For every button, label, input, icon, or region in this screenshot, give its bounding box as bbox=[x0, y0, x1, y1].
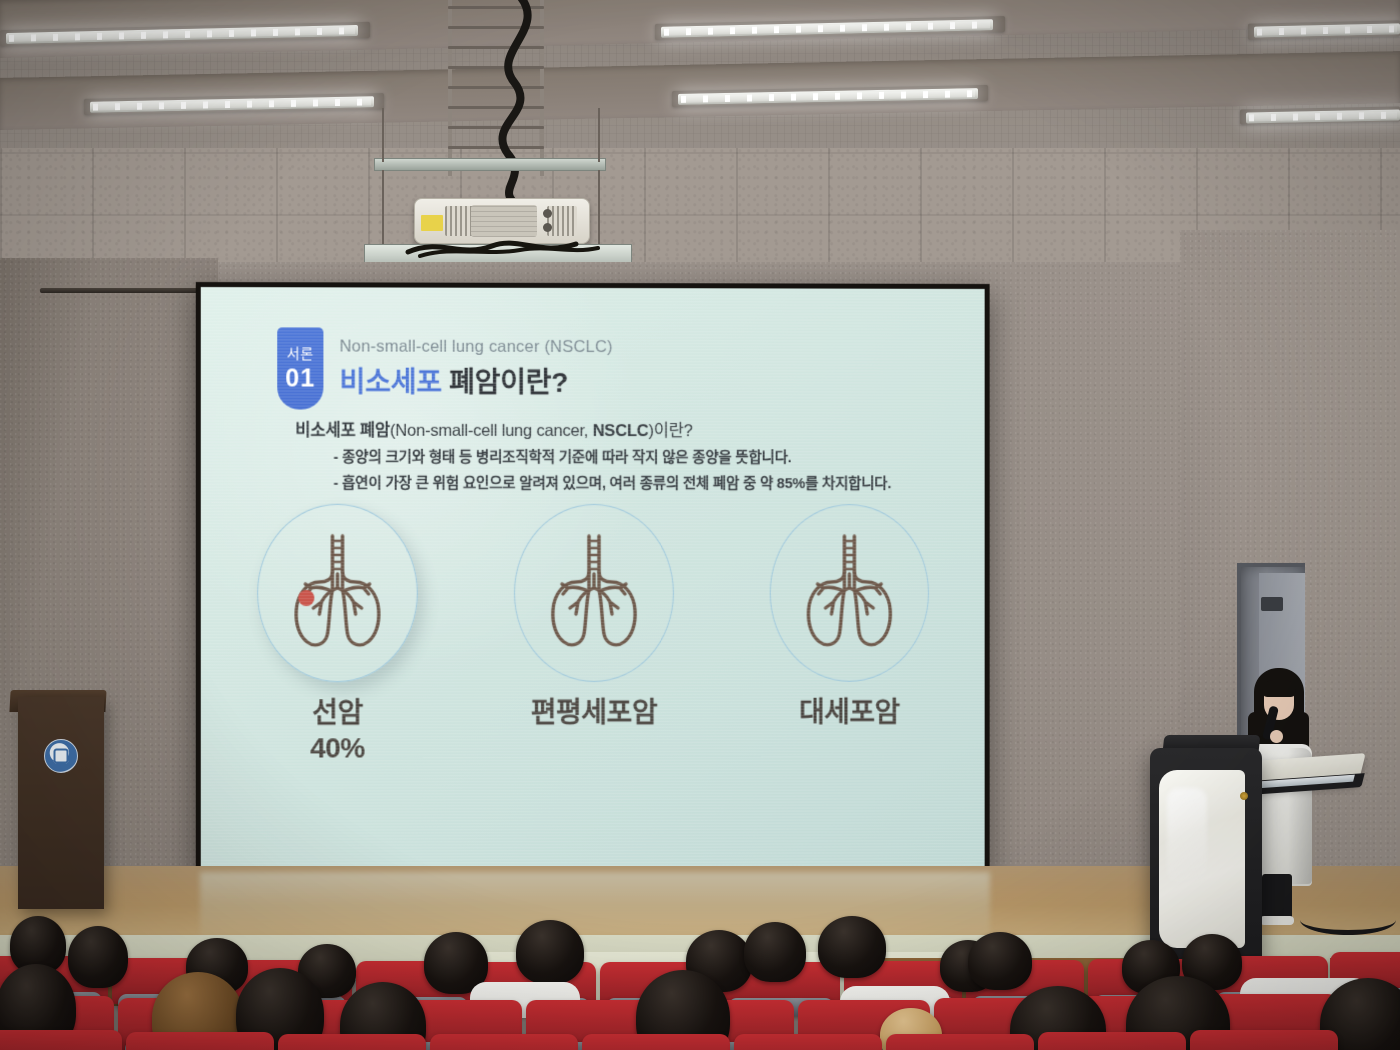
wooden-lectern[interactable] bbox=[18, 697, 104, 909]
audience-head bbox=[516, 920, 584, 984]
seat[interactable] bbox=[582, 1034, 730, 1050]
lung-circle-3 bbox=[770, 504, 929, 682]
section-badge: 서론 01 bbox=[277, 327, 323, 409]
body-lead-line: 비소세포 폐암(Non-small-cell lung cancer, NSCL… bbox=[295, 417, 939, 442]
header-text-group: Non-small-cell lung cancer (NSCLC) 비소세포 … bbox=[340, 327, 613, 401]
university-crest-icon bbox=[44, 739, 78, 773]
seat[interactable] bbox=[886, 1034, 1034, 1050]
lung-icon-with-tumor bbox=[281, 532, 393, 654]
audience-head bbox=[968, 932, 1032, 990]
slide-bullet-2: - 흡연이 가장 큰 위험 요인으로 알려져 있으며, 여러 종류의 전체 폐암… bbox=[333, 472, 938, 493]
hoist-wire-left bbox=[382, 108, 384, 162]
lung-circle-1 bbox=[257, 504, 418, 683]
lung-caption-1: 선암 40% bbox=[310, 696, 365, 764]
seat[interactable] bbox=[278, 1034, 426, 1050]
projection-screen: 서론 01 Non-small-cell lung cancer (NSCLC)… bbox=[196, 282, 990, 878]
lung-icon-plain-1 bbox=[538, 532, 650, 654]
projector-warning-label bbox=[421, 215, 443, 231]
lung-label-2: 편평세포암 bbox=[531, 696, 657, 729]
screen-mount-rail bbox=[40, 288, 212, 293]
presenter-hand bbox=[1270, 730, 1283, 743]
slide-body: 비소세포 폐암(Non-small-cell lung cancer, NSCL… bbox=[295, 417, 939, 494]
presenter-fringe bbox=[1262, 680, 1296, 697]
lung-percent-1: 40% bbox=[310, 731, 365, 764]
lung-card-adenocarcinoma: 선암 40% bbox=[247, 504, 428, 765]
slide-eyebrow: Non-small-cell lung cancer (NSCLC) bbox=[340, 337, 613, 357]
seat[interactable] bbox=[126, 1032, 274, 1050]
body-lead-en-close: )이란? bbox=[648, 422, 692, 440]
lung-type-row: 선암 40% bbox=[201, 504, 985, 765]
lung-caption-3: 대세포암 bbox=[799, 696, 900, 729]
seat[interactable] bbox=[0, 1030, 122, 1050]
lung-label-3: 대세포암 bbox=[799, 696, 900, 729]
audience-area bbox=[0, 912, 1400, 1050]
hoist-wire-left-lower bbox=[382, 170, 384, 248]
lung-circle-2 bbox=[514, 504, 674, 682]
lung-icon-plain-2 bbox=[794, 532, 906, 654]
slide-title-rest: 폐암이란? bbox=[442, 367, 568, 398]
slide-surface: 서론 01 Non-small-cell lung cancer (NSCLC)… bbox=[201, 287, 985, 873]
projector-mount-upper-rail bbox=[374, 158, 606, 171]
lung-card-squamous: 편평세포암 bbox=[504, 504, 684, 764]
section-badge-number: 01 bbox=[285, 366, 315, 391]
lung-label-1: 선암 bbox=[310, 696, 365, 729]
podium-indicator-icon bbox=[1240, 792, 1248, 800]
tumor-marker-icon bbox=[298, 590, 314, 606]
projector-knob-1 bbox=[543, 209, 552, 218]
section-badge-label: 서론 bbox=[287, 346, 314, 360]
slide-bullet-1: - 종양의 크기와 형태 등 병리조직학적 기준에 따라 작지 않은 종양을 뜻… bbox=[333, 446, 938, 468]
body-lead-en-open: (Non-small-cell lung cancer, bbox=[390, 422, 593, 440]
seat[interactable] bbox=[1190, 1030, 1338, 1050]
slide-content: 서론 01 Non-small-cell lung cancer (NSCLC)… bbox=[201, 287, 985, 873]
body-lead-abbr: NSCLC bbox=[593, 422, 649, 440]
hoist-wire-right bbox=[598, 108, 600, 162]
lung-card-large-cell: 대세포암 bbox=[760, 504, 939, 764]
projector-cables-bundle bbox=[400, 236, 610, 258]
door-latch-plate[interactable] bbox=[1261, 597, 1283, 611]
projector-control-panel bbox=[471, 205, 537, 237]
body-lead-ko: 비소세포 폐암 bbox=[295, 422, 390, 440]
audience-head bbox=[68, 926, 128, 988]
slide-title-highlight: 비소세포 bbox=[340, 367, 442, 398]
slide-title: 비소세포 폐암이란? bbox=[340, 361, 613, 401]
projector-knob-2 bbox=[543, 223, 552, 232]
lecture-hall-scene: 서론 01 Non-small-cell lung cancer (NSCLC)… bbox=[0, 0, 1400, 1050]
body-lead-en: (Non-small-cell lung cancer, NSCLC)이란? bbox=[390, 422, 693, 440]
audience-head bbox=[818, 916, 886, 978]
lung-caption-2: 편평세포암 bbox=[531, 696, 657, 729]
seat[interactable] bbox=[734, 1034, 882, 1050]
audience-head bbox=[744, 922, 806, 982]
slide-header: 서론 01 Non-small-cell lung cancer (NSCLC)… bbox=[247, 327, 939, 401]
seat[interactable] bbox=[430, 1034, 578, 1050]
seat[interactable] bbox=[1038, 1032, 1186, 1050]
